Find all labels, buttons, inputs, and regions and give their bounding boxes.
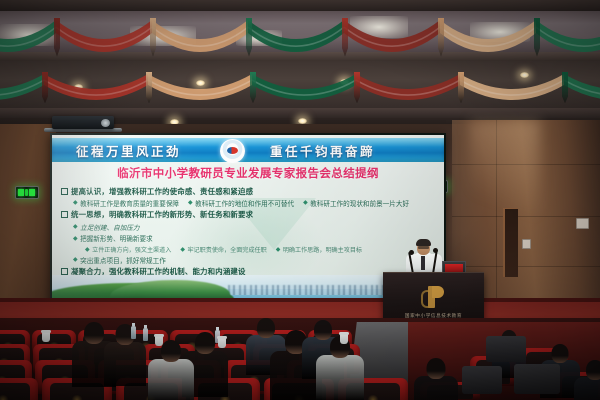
exit-sign [15,186,39,199]
diamond-bullet-icon: ◆ [303,199,308,206]
speaker-hair [416,239,431,246]
diamond-bullet-icon: ◆ [73,223,78,230]
water-bottle [143,328,148,341]
audience-head [586,360,600,380]
slide-bullet-text: 立件正确方向，强文主渠道入 [92,245,171,254]
slide-bullet-text: 突出重点项目，抓好常规工作 [80,255,166,265]
ceiling-light-panel [236,30,282,46]
audience-torso [574,377,600,400]
microphone-head-icon [409,250,414,255]
diamond-bullet-icon: ◆ [188,199,193,206]
side-chair [486,336,526,362]
audience-member [316,336,364,400]
ceiling-light-cove-lower [0,61,600,108]
slide-bullet-item: ◆教科研工作的现状和前景一片大好 [303,198,409,208]
water-bottle [131,326,136,339]
audience-torso [104,342,146,386]
paper-cup [155,336,163,346]
square-bullet-icon [61,188,68,195]
audience-head [552,344,569,363]
auditorium-seat [0,378,38,400]
slide-bullet-text: 教科研工作的现状和前景一片大好 [310,198,409,208]
auditorium-scene: 征程万里风正劲 重任千钧再奋蹄 临沂市中小学教研员专业发展专家报告会总结提纲 提… [0,0,600,400]
slide-bullet-text: 立足创建、自加压力 [80,222,139,232]
slide-bullet-item: ◆立件正确方向，强文主渠道入 [85,245,171,254]
audience-torso [316,355,364,400]
audience-head [84,322,104,344]
slide-heading-text: 提高认识，增强教科研工作的使命感、责任感和紧迫感 [71,186,253,197]
audience-torso [414,376,458,400]
ceiling-beam-top [0,0,600,11]
audience-member [148,340,194,400]
ceiling-downlight [196,80,205,86]
microphone-head-icon [433,248,438,253]
diamond-bullet-icon: ◆ [180,246,185,253]
paper-cup [42,332,50,342]
audience-member [414,358,458,400]
slide-bullet-item: ◆教科研工作是教育质量的重要保障 [73,198,179,208]
slide-banner: 征程万里风正劲 重任千钧再奋蹄 [52,138,444,162]
ceiling-projector [52,116,114,129]
slide-bullet-row: ◆突出重点项目，抓好常规工作 [73,255,435,265]
ceiling [0,0,600,128]
audience-head [161,340,181,362]
ceiling-light-panel [0,24,56,46]
side-chair [514,364,560,394]
slide-section-heading: 提高认识，增强教科研工作的使命感、责任感和紧迫感 [61,186,435,197]
slide-heading-text: 统一思想，明确教科研工作的新形势、新任务和新要求 [71,209,253,220]
diamond-bullet-icon: ◆ [73,235,78,242]
slide-bullet-text: 明确工作思路，明确主攻目标 [283,245,362,254]
square-bullet-icon [61,211,68,218]
ceiling-downlight [74,84,83,90]
slide-bullet-text: 把握新形势、明确新要求 [80,233,153,243]
slide-bullet-item: ◆牢记职责使命，全面完成任职 [180,245,266,254]
slide-section-heading: 统一思想，明确教科研工作的新形势、新任务和新要求 [61,209,435,220]
audience-torso [148,359,194,400]
wall-niche [503,208,518,277]
wall-plate [576,218,589,229]
audience-head [195,332,215,354]
slide-bullet-item: ◆立足创建、自加压力 [73,222,139,232]
banner-left-text: 征程万里风正劲 [76,141,181,160]
diamond-bullet-icon: ◆ [276,246,281,253]
diamond-bullet-icon: ◆ [85,246,90,253]
side-chair [462,366,502,394]
paper-cup [218,338,226,348]
left-wall-panel [0,124,56,320]
banner-right-text: 重任千钧再奋蹄 [270,141,375,160]
slide-bullet-text: 教科研工作是教育质量的重要保障 [80,198,179,208]
slide-bullet-item: ◆突出重点项目，抓好常规工作 [73,255,166,265]
audience-member [574,360,600,400]
audience-head [427,358,446,379]
speaker-glasses-icon [418,246,429,249]
slide-bullet-row: ◆立件正确方向，强文主渠道入◆牢记职责使命，全面完成任职◆明确工作思路，明确主攻… [85,245,435,254]
wall-plate [522,239,531,249]
slide-bullet-row: ◆把握新形势、明确新要求 [73,233,435,243]
slide-bullet-item: ◆明确工作思路，明确主攻目标 [276,245,362,254]
podium-p-logo-icon [421,286,445,308]
slide-bullet-row: ◆立足创建、自加压力 [73,222,435,232]
ceiling-light-panel [350,16,408,38]
slide-bullet-item: ◆把握新形势、明确新要求 [73,233,153,243]
ceiling-beam-middle [0,52,600,61]
slide-bullet-text: 牢记职责使命，全面完成任职 [187,245,266,254]
diamond-bullet-icon: ◆ [73,199,78,206]
slide-bullet-item: ◆教科研工作的地位和作用不可替代 [188,198,294,208]
ceiling-light-panel [130,26,196,46]
ceiling-downlight [520,72,529,78]
slide-bullet-row: ◆教科研工作是教育质量的重要保障◆教科研工作的地位和作用不可替代◆教科研工作的现… [73,198,435,208]
slide-title: 临沂市中小学教研员专业发展专家报告会总结提纲 [52,165,444,181]
ceiling-downlight [340,79,349,85]
slide-bullet-text: 教科研工作的地位和作用不可替代 [195,198,294,208]
organization-emblem-icon [220,139,245,163]
paper-cup [340,334,348,344]
diamond-bullet-icon: ◆ [73,256,78,263]
ceiling-light-panel [470,22,530,42]
stage-edge [0,298,600,302]
speaker-tie [421,256,425,270]
projector-lens-icon [101,119,110,127]
audience-member [104,324,146,389]
